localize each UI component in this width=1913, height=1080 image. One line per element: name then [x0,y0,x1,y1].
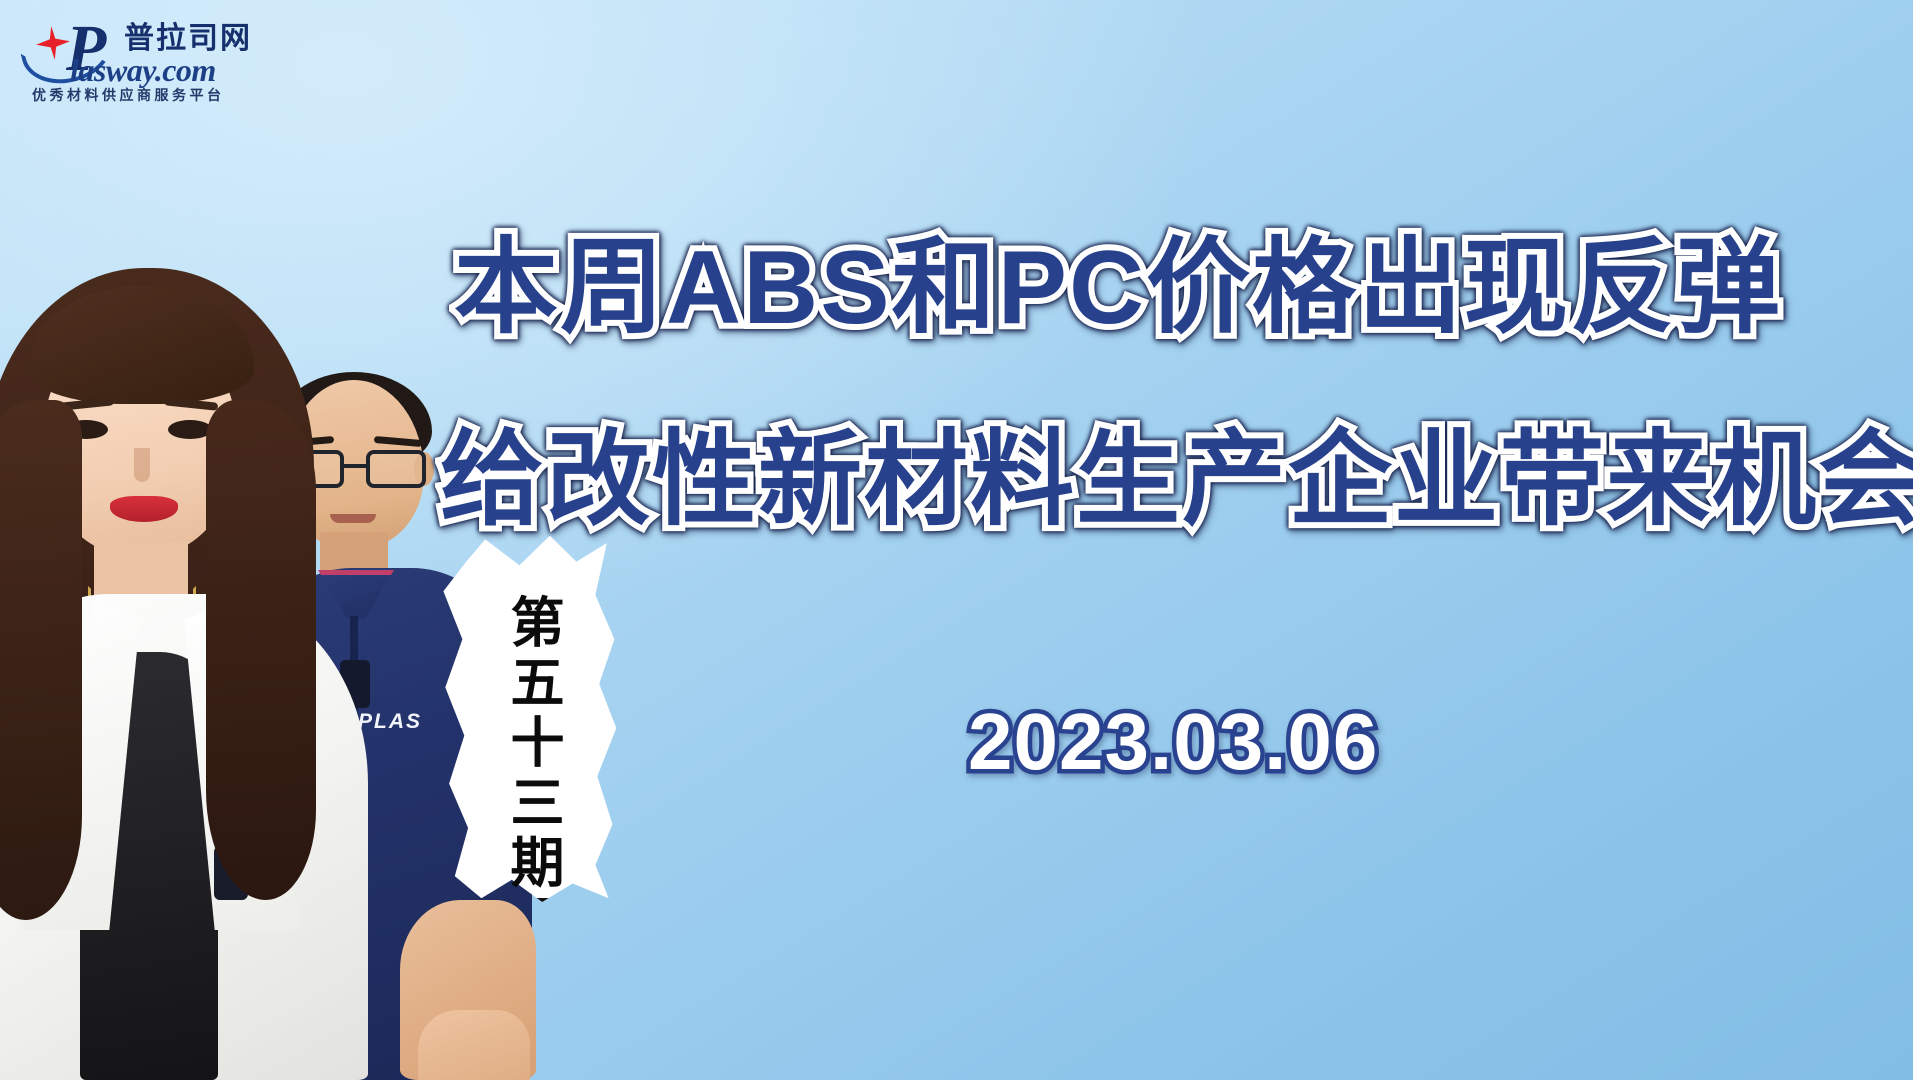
publish-date: 2023.03.06 [968,702,1378,782]
logo-script-name: lasway.com [70,54,216,86]
plasway-logo[interactable]: P 普拉司网 lasway.com 优秀材料供应商服务平台 [14,6,254,106]
glasses-lens-right [366,450,426,488]
title-line-2: 给改性新材料生产企业带来机会！ [440,428,1900,532]
woman-nose [134,448,150,482]
logo-tagline: 优秀材料供应商服务平台 [32,88,225,102]
title-line-1: 本周ABS和PC价格出现反弹 [454,236,1900,340]
logo-chinese-name: 普拉司网 [124,24,252,54]
man-hand [418,1010,530,1080]
woman-hair-right-strand [206,400,316,900]
issue-number-badge: 第五十三期 [432,532,622,902]
video-cover-canvas: P 普拉司网 lasway.com 优秀材料供应商服务平台 PLAS [0,0,1913,1080]
woman-hair-left-strand [0,400,82,920]
issue-number-label: 第五十三期 [495,594,559,894]
presenter-woman [0,250,368,1080]
cover-title: 本周ABS和PC价格出现反弹 给改性新材料生产企业带来机会！ [440,236,1900,532]
